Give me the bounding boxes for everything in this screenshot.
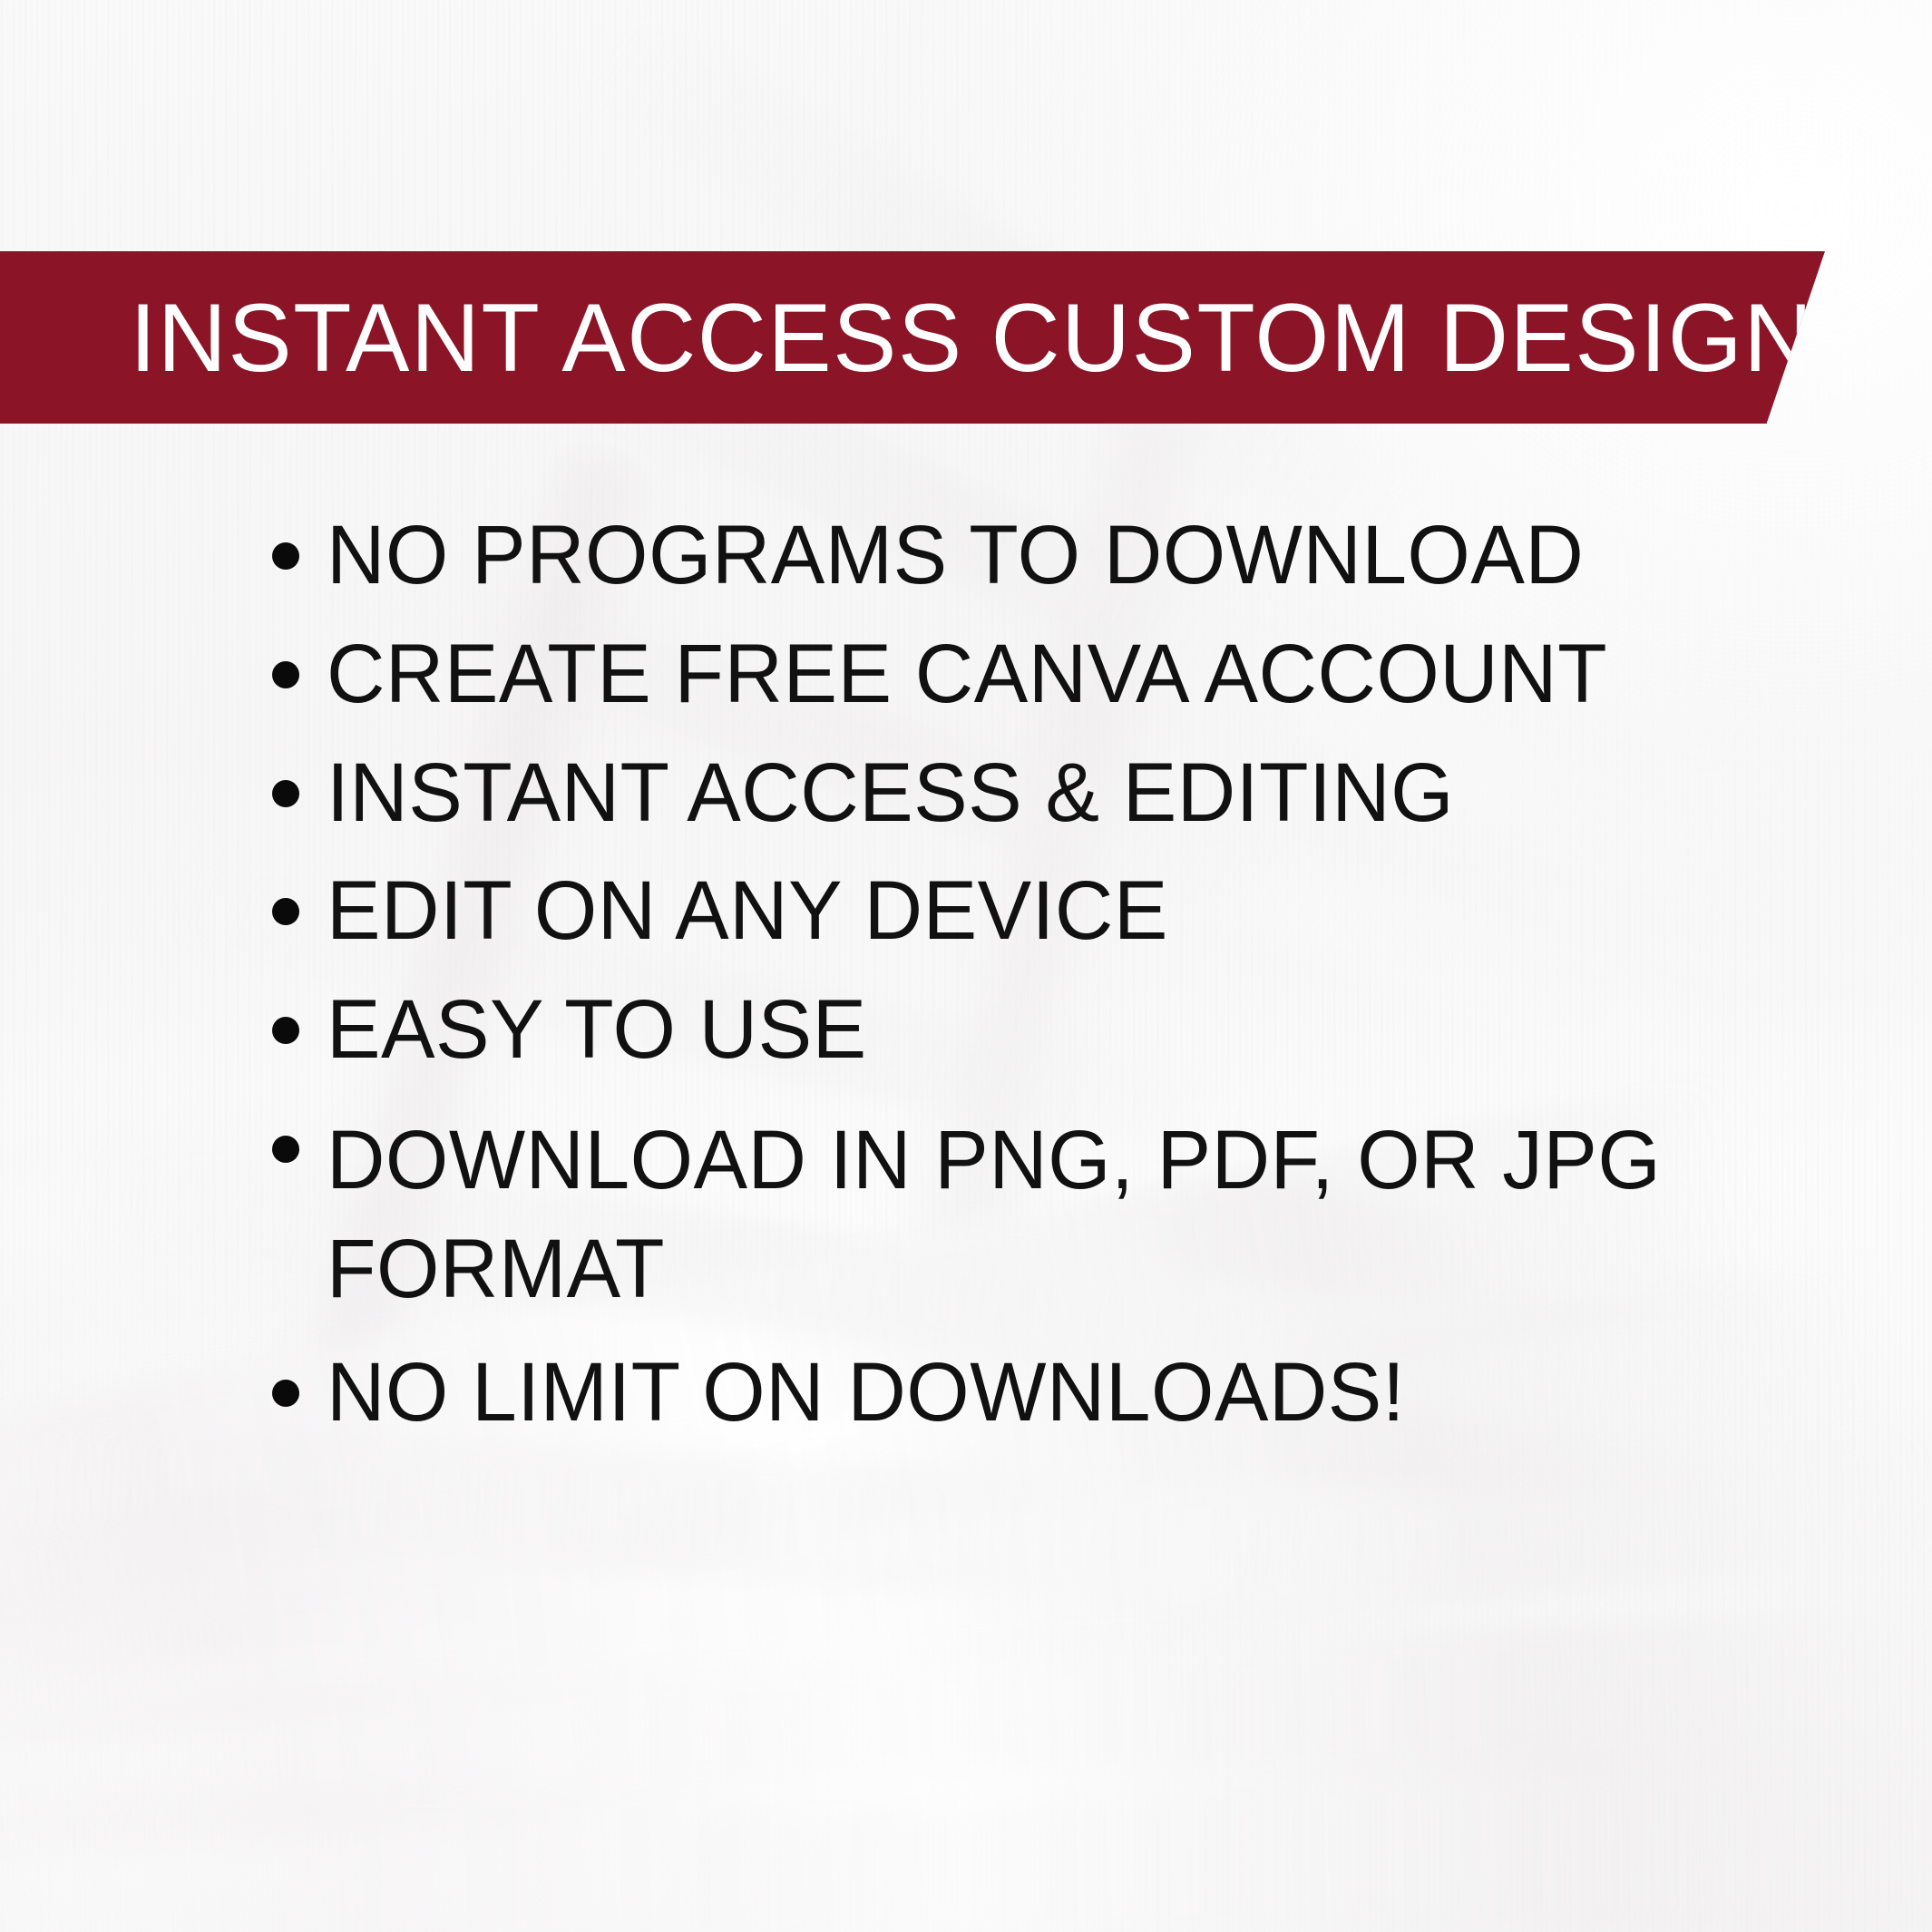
list-item: EASY TO USE (272, 988, 1742, 1073)
headline-banner: INSTANT ACCESS CUSTOM DESIGNS (0, 251, 1825, 424)
list-item-label: NO PROGRAMS TO DOWNLOAD (327, 513, 1584, 599)
bullet-dot-icon (272, 1017, 299, 1044)
list-item: EDIT ON ANY DEVICE (272, 869, 1742, 954)
list-item-label: INSTANT ACCESS & EDITING (327, 751, 1454, 836)
promo-graphic-canvas: INSTANT ACCESS CUSTOM DESIGNS NO PROGRAM… (0, 0, 1932, 1932)
bullet-dot-icon (272, 898, 299, 925)
list-item-label: EASY TO USE (327, 988, 867, 1073)
list-item-label: EDIT ON ANY DEVICE (327, 869, 1168, 954)
list-item: INSTANT ACCESS & EDITING (272, 751, 1742, 836)
bullet-dot-icon (272, 661, 299, 688)
bullet-dot-icon (272, 542, 299, 570)
bullet-dot-icon (272, 1380, 299, 1407)
list-item: DOWNLOAD IN PNG, PDF, OR JPG FORMAT (272, 1107, 1742, 1323)
banner-title: INSTANT ACCESS CUSTOM DESIGNS (130, 289, 1879, 386)
list-item-label: CREATE FREE CANVA ACCOUNT (327, 632, 1607, 717)
list-item: NO LIMIT ON DOWNLOADS! (272, 1351, 1742, 1436)
bullet-dot-icon (272, 1136, 299, 1163)
list-item-label: DOWNLOAD IN PNG, PDF, OR JPG FORMAT (327, 1107, 1661, 1323)
list-item: NO PROGRAMS TO DOWNLOAD (272, 513, 1742, 599)
feature-list: NO PROGRAMS TO DOWNLOADCREATE FREE CANVA… (272, 513, 1742, 1469)
list-item: CREATE FREE CANVA ACCOUNT (272, 632, 1742, 717)
bullet-dot-icon (272, 780, 299, 807)
list-item-label: NO LIMIT ON DOWNLOADS! (327, 1351, 1405, 1436)
